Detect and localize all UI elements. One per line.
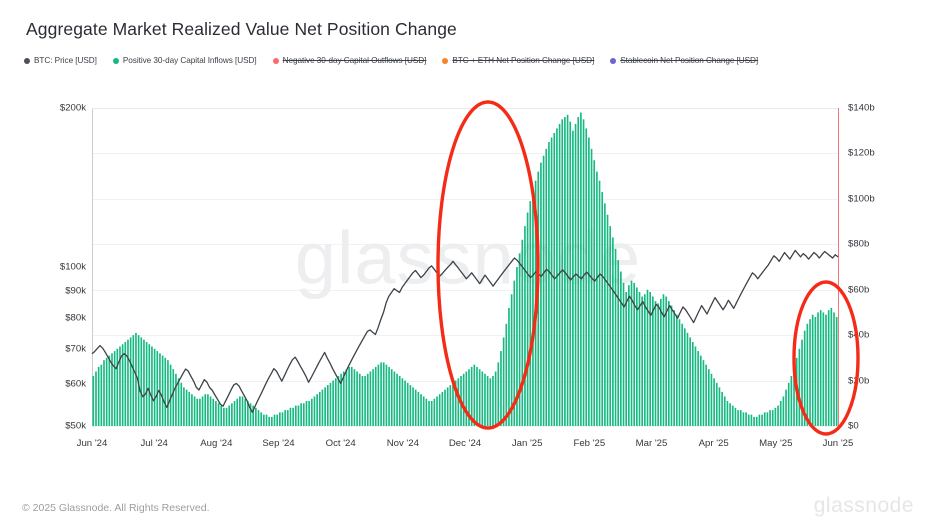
bar (631, 281, 633, 426)
bar (452, 383, 454, 426)
bar (625, 292, 627, 426)
bar (156, 351, 158, 426)
bar (396, 374, 398, 426)
line-series-btc-price (92, 250, 838, 412)
bar (348, 367, 350, 426)
bar (172, 369, 174, 426)
bar (796, 358, 798, 426)
bar (761, 415, 763, 426)
x-axis-tick-4: Oct '24 (326, 438, 356, 449)
bar (545, 149, 547, 426)
bar (585, 128, 587, 426)
bar (447, 387, 449, 426)
bar (223, 408, 225, 426)
bar (298, 406, 300, 426)
bar (740, 410, 742, 426)
bar (500, 351, 502, 426)
bar (484, 374, 486, 426)
bar (356, 371, 358, 426)
bar (569, 122, 571, 426)
bar (820, 310, 822, 426)
bar (399, 376, 401, 426)
bar (607, 215, 609, 426)
bar (428, 401, 430, 426)
bar (751, 415, 753, 426)
bar (524, 226, 526, 426)
y-axis-left-tick-5: $60k (65, 379, 86, 390)
bar (804, 331, 806, 426)
bar (244, 399, 246, 426)
bar (215, 401, 217, 426)
bar (537, 172, 539, 426)
bar (386, 365, 388, 426)
bar (489, 378, 491, 426)
bar (170, 365, 172, 426)
x-axis-tick-12: Jun '25 (823, 438, 854, 449)
bar (308, 401, 310, 426)
copyright-text: © 2025 Glassnode. All Rights Reserved. (22, 502, 210, 514)
right-boundary-line (838, 108, 839, 426)
bar (601, 192, 603, 426)
bar (479, 369, 481, 426)
bar (316, 394, 318, 426)
bar (468, 369, 470, 426)
bar (583, 119, 585, 426)
bar (759, 415, 761, 426)
bar (146, 342, 148, 426)
legend-color-dot-icon (610, 58, 616, 64)
bar (196, 399, 198, 426)
bar (167, 360, 169, 426)
bar (721, 392, 723, 426)
x-axis-tick-0: Jun '24 (77, 438, 108, 449)
bar (673, 310, 675, 426)
bar (106, 358, 108, 426)
bar (306, 401, 308, 426)
bar (290, 408, 292, 426)
bar (434, 399, 436, 426)
bar (455, 381, 457, 426)
bar (825, 315, 827, 426)
bar (442, 392, 444, 426)
bar (833, 312, 835, 426)
bar (327, 385, 329, 426)
bar (274, 415, 276, 426)
bar (338, 376, 340, 426)
bar (122, 344, 124, 426)
bar (719, 387, 721, 426)
bar (378, 365, 380, 426)
bar (263, 415, 265, 426)
bar (266, 415, 268, 426)
bar (463, 374, 465, 426)
chart-legend: BTC: Price [USD]Positive 30-day Capital … (24, 56, 774, 65)
bar (407, 383, 409, 426)
bar (735, 408, 737, 426)
bar (737, 410, 739, 426)
y-axis-left-tick-1: $100k (60, 262, 86, 273)
bar (95, 371, 97, 426)
bar (532, 190, 534, 426)
bar (793, 367, 795, 426)
bar (287, 410, 289, 426)
y-axis-right-tick-1: $120b (848, 148, 875, 159)
bar (175, 374, 177, 426)
bar (346, 369, 348, 426)
bar (199, 399, 201, 426)
bar (359, 374, 361, 426)
legend-item-4[interactable]: Stablecoin Net Position Change [USD] (610, 56, 758, 65)
bar (788, 383, 790, 426)
legend-item-2[interactable]: Negative 30-day Capital Outflows [USD] (273, 56, 427, 65)
bar (148, 344, 150, 426)
x-axis-tick-6: Dec '24 (449, 438, 481, 449)
bar (577, 117, 579, 426)
chart-page: Aggregate Market Realized Value Net Posi… (0, 0, 936, 528)
bar (543, 156, 545, 426)
bar (799, 349, 801, 426)
bar (279, 412, 281, 426)
bar (513, 281, 515, 426)
bar (194, 396, 196, 426)
bar (188, 392, 190, 426)
bar (354, 369, 356, 426)
bar (426, 399, 428, 426)
footer-brand-logo: glassnode (814, 494, 914, 518)
bar (164, 358, 166, 426)
bar (535, 181, 537, 426)
bar (180, 383, 182, 426)
bar (212, 399, 214, 426)
bar (831, 308, 833, 426)
bar (809, 319, 811, 426)
bar (519, 253, 521, 426)
legend-item-3[interactable]: BTC + ETH Net Position Change [USD] (442, 56, 594, 65)
bar (492, 376, 494, 426)
bar (604, 203, 606, 426)
x-axis: Jun '24Jul '24Aug '24Sep '24Oct '24Nov '… (0, 438, 936, 454)
bar (700, 356, 702, 426)
bar (679, 319, 681, 426)
bar (671, 306, 673, 426)
bar (561, 119, 563, 426)
bar (226, 408, 228, 426)
bar (295, 406, 297, 426)
bar (641, 297, 643, 426)
bar (655, 301, 657, 426)
bar (93, 376, 95, 426)
bar (103, 360, 105, 426)
bar (801, 340, 803, 426)
bar (375, 367, 377, 426)
bar (705, 365, 707, 426)
bar (271, 417, 273, 426)
bar (785, 390, 787, 426)
x-axis-tick-7: Jan '25 (512, 438, 543, 449)
bar (807, 324, 809, 426)
bar (689, 337, 691, 426)
bar (143, 340, 145, 426)
bar (436, 396, 438, 426)
bar (383, 362, 385, 426)
bar (330, 383, 332, 426)
x-axis-tick-10: Apr '25 (699, 438, 729, 449)
chart-plot (92, 108, 838, 426)
bar (130, 337, 132, 426)
bar (767, 412, 769, 426)
bar (420, 394, 422, 426)
bar (756, 417, 758, 426)
bar (649, 292, 651, 426)
bar (431, 401, 433, 426)
bar (612, 237, 614, 426)
bar (220, 406, 222, 426)
bar (615, 249, 617, 426)
bar (159, 353, 161, 426)
bar (609, 226, 611, 426)
gridline-7 (92, 426, 838, 427)
bar (716, 383, 718, 426)
bar (132, 335, 134, 426)
y-axis-left-tick-6: $50k (65, 421, 86, 432)
bar (372, 369, 374, 426)
bar (388, 367, 390, 426)
bar (748, 415, 750, 426)
bar (140, 337, 142, 426)
bar (404, 381, 406, 426)
bar (343, 371, 345, 426)
bar (412, 387, 414, 426)
bar (527, 212, 529, 426)
bar (783, 396, 785, 426)
bar (116, 349, 118, 426)
bar (836, 317, 838, 426)
bar (303, 403, 305, 426)
bar (815, 317, 817, 426)
y-axis-right-tick-7: $0 (848, 421, 859, 432)
bar (828, 310, 830, 426)
bar (620, 272, 622, 426)
bar (410, 385, 412, 426)
x-axis-tick-3: Sep '24 (262, 438, 294, 449)
bar (745, 412, 747, 426)
bar (362, 376, 364, 426)
x-axis-tick-9: Mar '25 (636, 438, 668, 449)
bar (777, 406, 779, 426)
bar (394, 371, 396, 426)
bar (780, 401, 782, 426)
bar (162, 356, 164, 426)
bar (695, 347, 697, 427)
bar (652, 297, 654, 426)
bar (665, 297, 667, 426)
bar (713, 378, 715, 426)
bar (660, 299, 662, 426)
bar (380, 362, 382, 426)
bar (370, 371, 372, 426)
bar (684, 328, 686, 426)
bar (98, 367, 100, 426)
y-axis-left-tick-4: $70k (65, 343, 86, 354)
bar (191, 394, 193, 426)
bar (687, 333, 689, 426)
bar (135, 333, 137, 426)
bar (703, 360, 705, 426)
bar (324, 387, 326, 426)
bar (466, 371, 468, 426)
bar (332, 381, 334, 426)
bar (617, 260, 619, 426)
bar (218, 403, 220, 426)
bar (591, 149, 593, 426)
bar (282, 412, 284, 426)
bar (151, 347, 153, 427)
bar (476, 367, 478, 426)
bar (242, 396, 244, 426)
bar (258, 410, 260, 426)
bar (553, 133, 555, 426)
bar (508, 308, 510, 426)
bar (481, 371, 483, 426)
bar (364, 376, 366, 426)
bar (268, 417, 270, 426)
bar (580, 113, 582, 426)
bar (284, 410, 286, 426)
bar (548, 142, 550, 426)
x-axis-tick-2: Aug '24 (200, 438, 232, 449)
bar (450, 385, 452, 426)
legend-item-label: Positive 30-day Capital Inflows [USD] (123, 56, 257, 65)
bar (505, 324, 507, 426)
bar (791, 376, 793, 426)
bar (769, 410, 771, 426)
legend-color-dot-icon (113, 58, 119, 64)
bar (351, 367, 353, 426)
bar (292, 408, 294, 426)
y-axis-right-tick-4: $60b (848, 284, 869, 295)
bar (772, 410, 774, 426)
bar (228, 406, 230, 426)
legend-color-dot-icon (273, 58, 279, 64)
bar (474, 365, 476, 426)
bar (234, 401, 236, 426)
bar (599, 181, 601, 426)
x-axis-tick-11: May '25 (759, 438, 792, 449)
bar (127, 340, 129, 426)
bar (236, 399, 238, 426)
bar (239, 396, 241, 426)
bar (764, 412, 766, 426)
bar (639, 292, 641, 426)
legend-item-label: BTC + ETH Net Position Change [USD] (452, 56, 594, 65)
page-title: Aggregate Market Realized Value Net Posi… (26, 19, 457, 40)
bar (732, 406, 734, 426)
bar (559, 124, 561, 426)
bar (439, 394, 441, 426)
bar (444, 390, 446, 426)
bar (415, 390, 417, 426)
bar (311, 399, 313, 426)
bar (775, 408, 777, 426)
bar (668, 301, 670, 426)
bar (260, 412, 262, 426)
bar (300, 403, 302, 426)
y-axis-left-tick-0: $200k (60, 103, 86, 114)
bar (367, 374, 369, 426)
bar (729, 403, 731, 426)
bar (540, 163, 542, 426)
bar (335, 378, 337, 426)
y-axis-left-tick-3: $80k (65, 313, 86, 324)
bar (314, 396, 316, 426)
bar (743, 412, 745, 426)
legend-item-1[interactable]: Positive 30-day Capital Inflows [USD] (113, 56, 257, 65)
bar (596, 172, 598, 426)
y-axis-right-tick-3: $80b (848, 239, 869, 250)
bar (402, 378, 404, 426)
bar (458, 378, 460, 426)
y-axis-right-tick-5: $40b (848, 330, 869, 341)
bar (487, 376, 489, 426)
bar (418, 392, 420, 426)
x-axis-tick-5: Nov '24 (387, 438, 419, 449)
bar (711, 374, 713, 426)
y-axis-left-tick-2: $90k (65, 286, 86, 297)
bar (497, 362, 499, 426)
legend-item-label: Negative 30-day Capital Outflows [USD] (283, 56, 427, 65)
bar (183, 387, 185, 426)
bar (108, 356, 110, 426)
bar (588, 138, 590, 426)
bar (101, 365, 103, 426)
bar (210, 396, 212, 426)
bar (551, 138, 553, 426)
bar (657, 303, 659, 426)
bar (322, 390, 324, 426)
bar (697, 351, 699, 426)
bar (231, 403, 233, 426)
bar (708, 369, 710, 426)
y-axis-right-tick-2: $100b (848, 193, 875, 204)
bar (154, 349, 156, 426)
bar (516, 267, 518, 426)
bar (204, 394, 206, 426)
bar (319, 392, 321, 426)
bar (186, 390, 188, 426)
bar (681, 324, 683, 426)
x-axis-tick-8: Feb '25 (573, 438, 605, 449)
bar (692, 342, 694, 426)
x-axis-tick-1: Jul '24 (140, 438, 167, 449)
bar (391, 369, 393, 426)
bar (724, 396, 726, 426)
legend-item-label: Stablecoin Net Position Change [USD] (620, 56, 758, 65)
bar (471, 367, 473, 426)
bar (628, 285, 630, 426)
bar (644, 294, 646, 426)
legend-color-dot-icon (442, 58, 448, 64)
bar-series-positive-inflows (93, 113, 838, 426)
bar (817, 312, 819, 426)
y-axis-right-tick-6: $20b (848, 375, 869, 386)
bar (276, 415, 278, 426)
bar (202, 396, 204, 426)
bar (529, 201, 531, 426)
bar (207, 394, 209, 426)
bar (812, 315, 814, 426)
bar (495, 371, 497, 426)
bar (178, 378, 180, 426)
